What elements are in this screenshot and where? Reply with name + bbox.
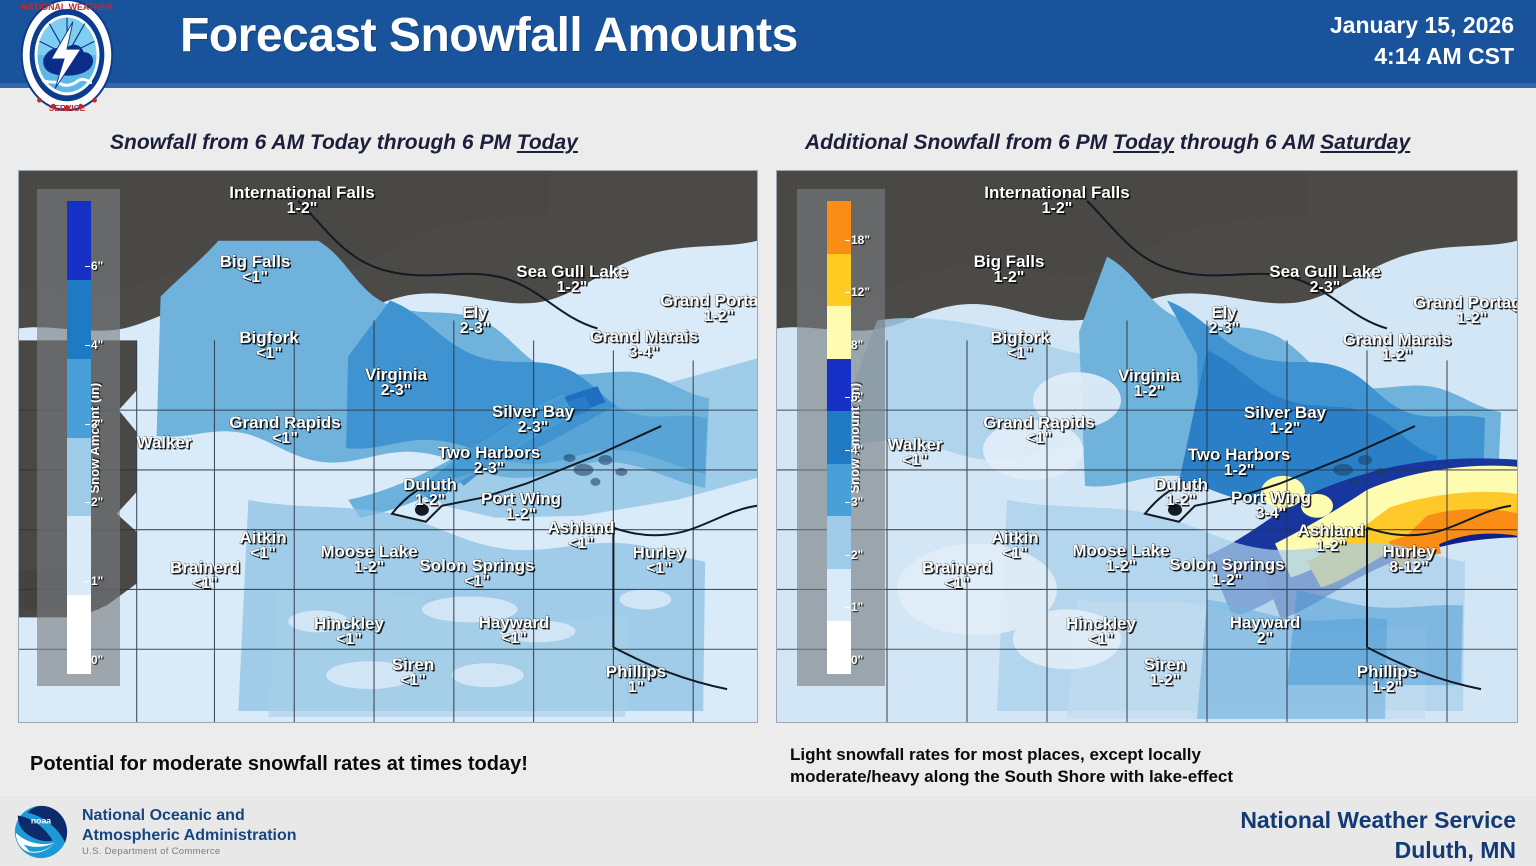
colorbar-tick-label: 2" [851, 548, 863, 562]
colorbar-tick-label: 1" [91, 574, 103, 588]
left-panel-title: Snowfall from 6 AM Today through 6 PM To… [110, 131, 578, 155]
colorbar-segment [827, 621, 851, 674]
left-colorbar-ticks: 0"1"2"3"4"6" [91, 201, 131, 674]
left-colorbar-gradient [67, 201, 91, 674]
colorbar-tick-label: 4" [91, 338, 103, 352]
colorbar-segment [827, 411, 851, 464]
colorbar-segment [67, 516, 91, 595]
right-colorbar: Snow Amount (in) 0"1"2"3"4"6"8"12"18" [797, 189, 885, 686]
right-panel-title-mid: through 6 AM [1174, 131, 1320, 154]
right-colorbar-gradient [827, 201, 851, 674]
svg-text:NATIONAL WEATHER: NATIONAL WEATHER [21, 2, 113, 12]
right-colorbar-ticks: 0"1"2"3"4"6"8"12"18" [851, 201, 891, 674]
colorbar-tick-label: 1" [851, 600, 863, 614]
right-map-caption-line1: Light snowfall rates for most places, ex… [790, 744, 1233, 766]
issuing-office: National Weather Service Duluth, MN [1240, 806, 1516, 866]
right-panel-title-text: Additional Snowfall from 6 PM [805, 131, 1113, 154]
colorbar-tick-label: 4" [851, 443, 863, 457]
colorbar-tick-label: 18" [851, 233, 870, 247]
noaa-agency-name: National Oceanic and Atmospheric Adminis… [82, 806, 297, 847]
colorbar-segment [67, 201, 91, 280]
header-underline [0, 83, 1536, 88]
colorbar-segment [67, 280, 91, 359]
colorbar-tick-label: 3" [91, 417, 103, 431]
noaa-logo-icon: noaa [10, 802, 72, 860]
colorbar-segment [827, 516, 851, 569]
left-panel-title-text: Snowfall from 6 AM Today through 6 PM [110, 131, 517, 154]
noaa-agency-line1: National Oceanic and [82, 806, 297, 826]
colorbar-segment [827, 306, 851, 359]
colorbar-segment [827, 464, 851, 517]
colorbar-tick-label: 6" [91, 259, 103, 273]
timestamp: January 15, 2026 4:14 AM CST [1330, 10, 1514, 71]
right-panel-title: Additional Snowfall from 6 PM Today thro… [805, 131, 1410, 155]
colorbar-tick-label: 3" [851, 495, 863, 509]
left-colorbar: Snow Amount (in) 0"1"2"3"4"6" [37, 189, 120, 686]
issuing-office-name: National Weather Service [1240, 806, 1516, 836]
colorbar-tick-label: 8" [851, 338, 863, 352]
issue-time: 4:14 AM CST [1330, 41, 1514, 72]
right-panel-title-emphasis-2: Saturday [1320, 131, 1410, 154]
colorbar-segment [67, 359, 91, 438]
right-map-caption: Light snowfall rates for most places, ex… [790, 744, 1233, 788]
left-snowfall-map[interactable]: Snow Amount (in) 0"1"2"3"4"6" Internatio… [18, 170, 758, 723]
right-map-caption-line2: moderate/heavy along the South Shore wit… [790, 766, 1233, 788]
colorbar-segment [827, 201, 851, 254]
colorbar-segment [827, 254, 851, 307]
colorbar-tick-label: 12" [851, 285, 870, 299]
issuing-office-location: Duluth, MN [1240, 836, 1516, 866]
right-snowfall-map[interactable]: Snow Amount (in) 0"1"2"3"4"6"8"12"18" In… [776, 170, 1518, 723]
colorbar-tick-label: 0" [91, 653, 103, 667]
colorbar-tick-label: 0" [851, 653, 863, 667]
noaa-logo-text: noaa [31, 815, 51, 825]
national-weather-service-seal-icon: NATIONAL WEATHER SERVICE [8, 0, 126, 116]
noaa-department-line: U.S. Department of Commerce [82, 846, 221, 857]
left-panel-title-emphasis: Today [517, 131, 578, 154]
page-title: Forecast Snowfall Amounts [180, 8, 798, 63]
issue-date: January 15, 2026 [1330, 10, 1514, 41]
left-map-caption: Potential for moderate snowfall rates at… [30, 753, 528, 776]
colorbar-segment [67, 438, 91, 517]
right-panel-title-emphasis-1: Today [1113, 131, 1174, 154]
colorbar-tick-label: 6" [851, 390, 863, 404]
forecast-graphic: NATIONAL WEATHER SERVICE Forecast Snowfa… [0, 0, 1536, 864]
noaa-agency-line2: Atmospheric Administration [82, 826, 297, 846]
footer-bar: noaa National Oceanic and Atmospheric Ad… [0, 796, 1536, 864]
colorbar-segment [67, 595, 91, 674]
colorbar-segment [827, 569, 851, 622]
colorbar-segment [827, 359, 851, 412]
colorbar-tick-label: 2" [91, 495, 103, 509]
